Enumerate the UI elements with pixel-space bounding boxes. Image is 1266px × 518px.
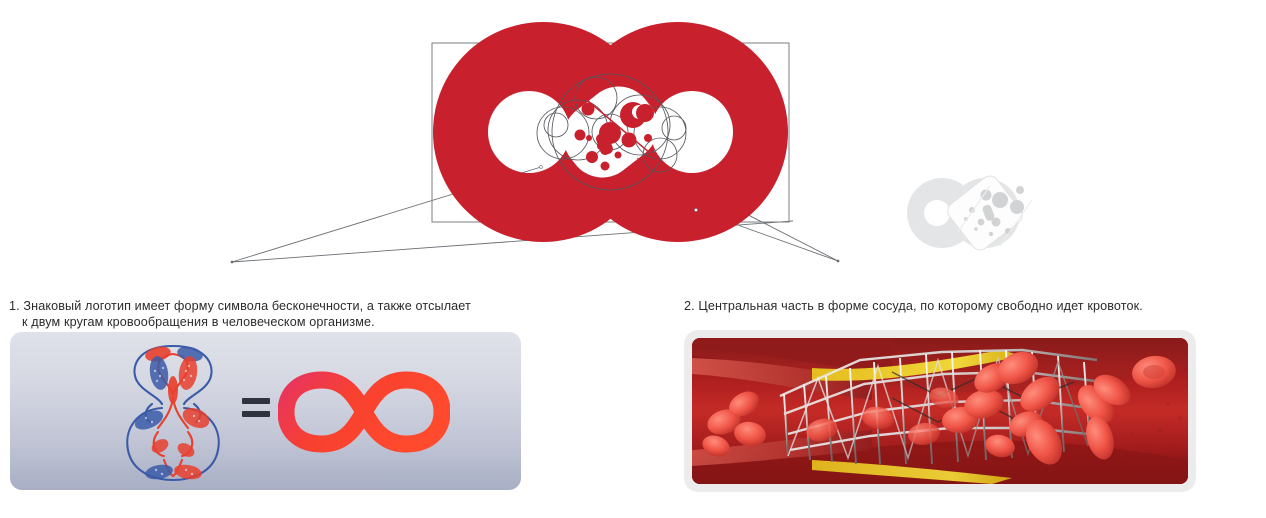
grayscale-logo-thumbnail [895,170,1045,260]
stent-illustration [692,338,1188,484]
stent-vessel-photo [692,338,1188,484]
caption-two: 2. Центральная часть в форме сосуда, по … [684,281,1259,331]
logo-construction-diagram [0,0,1266,275]
circulation-card [10,332,521,490]
page-root: 1. Знаковый логотип имеет форму символа … [0,0,1266,518]
callout-anchor-left [231,261,234,264]
detail-anchor-dot [654,150,656,152]
left-lobe-point [540,166,543,169]
infinity-symbol [278,368,450,456]
right-lobe-point [694,208,697,211]
equals-sign [242,398,270,422]
caption-one-text: 1. Знаковый логотип имеет форму символа … [9,298,629,331]
stent-card [684,330,1196,492]
circulatory-system-illustration [114,338,232,484]
callout-anchor-right [837,260,840,263]
caption-two-text: 2. Центральная часть в форме сосуда, по … [684,298,1259,315]
